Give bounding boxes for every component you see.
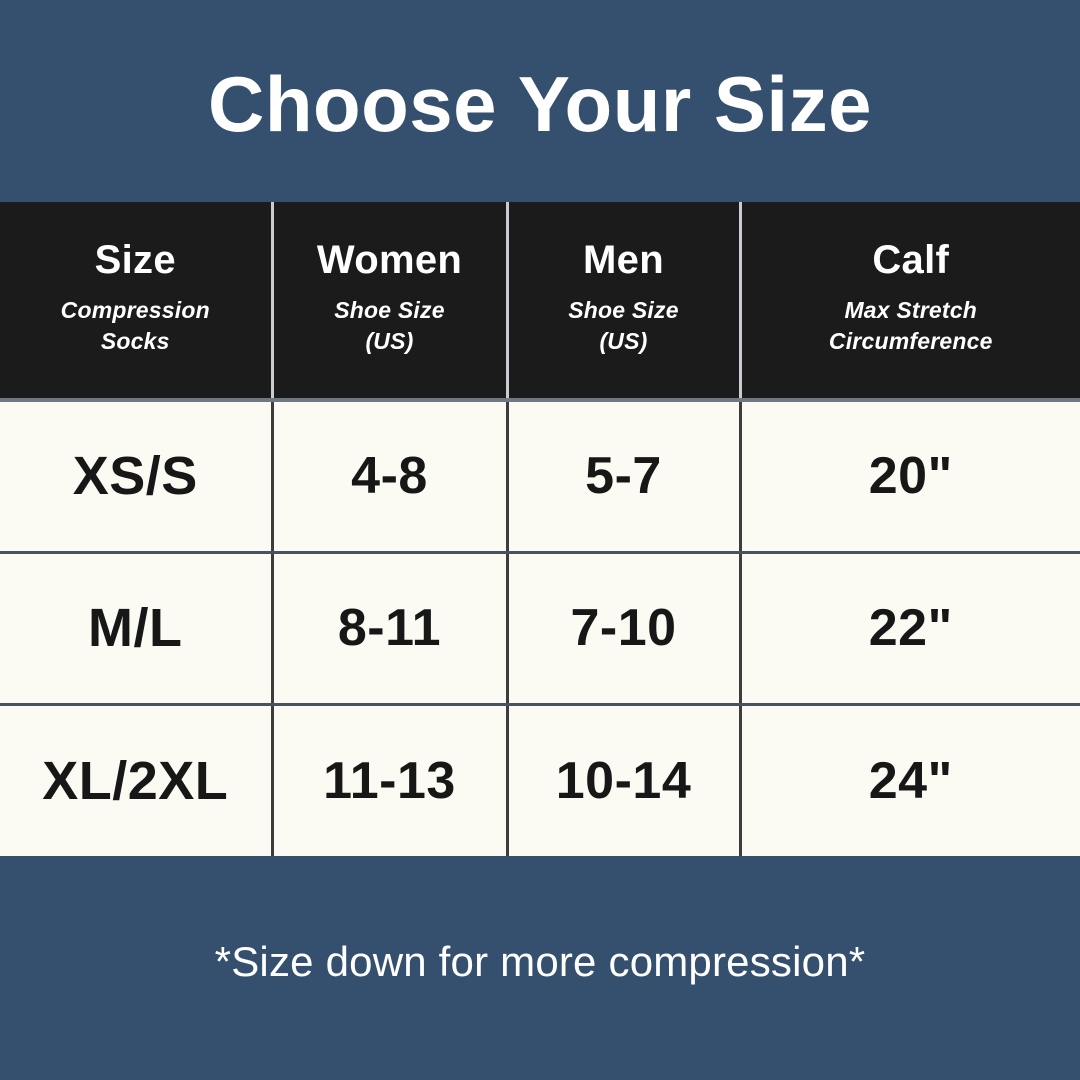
column-header-men-subtitle-line2: (US) (517, 326, 731, 357)
title-area: Choose Your Size (0, 0, 1080, 202)
column-header-men: Men Shoe Size (US) (507, 202, 740, 400)
size-chart-poster: Choose Your Size Size Compression Socks … (0, 0, 1080, 1080)
column-header-women-title: Women (282, 239, 498, 281)
size-chart-table: Size Compression Socks Women Shoe Size (… (0, 202, 1080, 856)
table-row: M/L 8-11 7-10 22" (0, 552, 1080, 704)
cell-calf: 20" (740, 400, 1080, 552)
column-header-size-subtitle-line2: Socks (8, 326, 263, 357)
table-body: XS/S 4-8 5-7 20" M/L 8-11 7-10 22" XL/2X… (0, 400, 1080, 856)
column-header-men-title: Men (517, 239, 731, 281)
column-header-size: Size Compression Socks (0, 202, 272, 400)
cell-women: 4-8 (272, 400, 507, 552)
column-header-men-subtitle-line1: Shoe Size (517, 295, 731, 326)
column-header-women-subtitle-line2: (US) (282, 326, 498, 357)
table-header: Size Compression Socks Women Shoe Size (… (0, 202, 1080, 400)
column-header-calf-subtitle-line1: Max Stretch (750, 295, 1073, 326)
cell-size: M/L (0, 552, 272, 704)
table-header-row: Size Compression Socks Women Shoe Size (… (0, 202, 1080, 400)
cell-women: 8-11 (272, 552, 507, 704)
column-header-calf-subtitle-line2: Circumference (750, 326, 1073, 357)
column-header-women-subtitle-line1: Shoe Size (282, 295, 498, 326)
column-header-size-subtitle-line1: Compression (8, 295, 263, 326)
column-header-size-title: Size (8, 239, 263, 281)
column-header-calf-title: Calf (750, 239, 1073, 281)
cell-women: 11-13 (272, 704, 507, 856)
page-title: Choose Your Size (208, 59, 872, 143)
cell-size: XS/S (0, 400, 272, 552)
cell-calf: 22" (740, 552, 1080, 704)
column-header-calf: Calf Max Stretch Circumference (740, 202, 1080, 400)
footnote-area: *Size down for more compression* (0, 856, 1080, 1080)
cell-size: XL/2XL (0, 704, 272, 856)
cell-men: 7-10 (507, 552, 740, 704)
cell-calf: 24" (740, 704, 1080, 856)
cell-men: 10-14 (507, 704, 740, 856)
table-row: XL/2XL 11-13 10-14 24" (0, 704, 1080, 856)
footnote-text: *Size down for more compression* (215, 938, 866, 998)
table-row: XS/S 4-8 5-7 20" (0, 400, 1080, 552)
cell-men: 5-7 (507, 400, 740, 552)
column-header-women: Women Shoe Size (US) (272, 202, 507, 400)
